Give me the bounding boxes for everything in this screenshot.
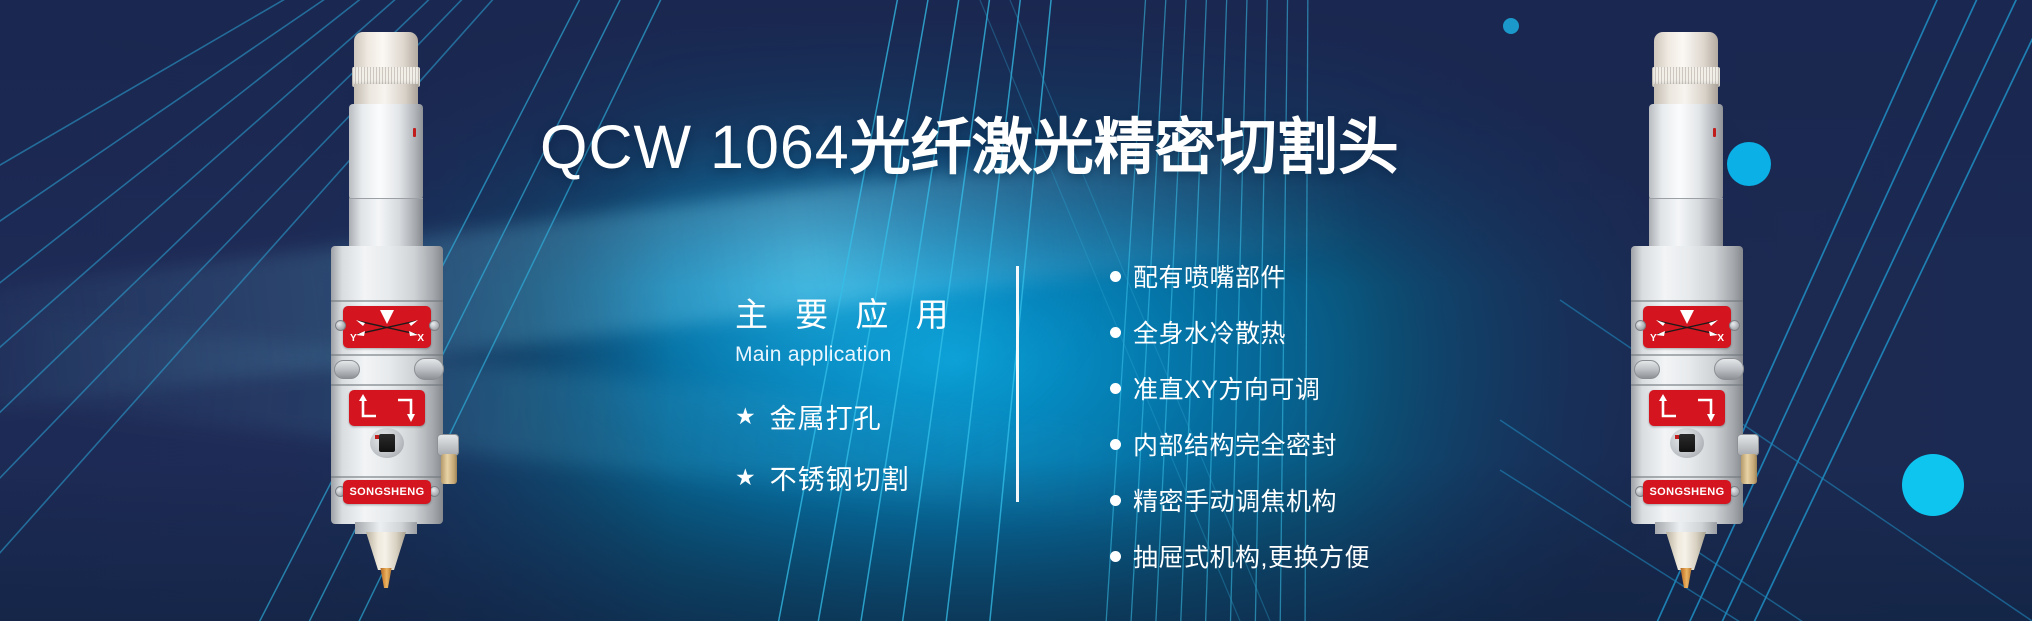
xy-alignment-label: Y X — [1643, 306, 1731, 348]
body-seam — [1631, 384, 1743, 386]
cross-arrows-icon — [356, 320, 418, 338]
axis-label-x: X — [1717, 333, 1724, 344]
red-indicator-dot — [1713, 128, 1716, 137]
hose-fitting — [1737, 434, 1765, 492]
title-chinese: 光纤激光精密切割头 — [850, 113, 1399, 181]
product-image-right: Y X SONGSHENG — [1613, 32, 1763, 592]
corner-arrows-icon — [1649, 390, 1725, 426]
vertical-divider — [1016, 266, 1019, 502]
list-item: 配有喷嘴部件 — [1110, 258, 1370, 294]
list-item: 精密手动调焦机构 — [1110, 482, 1370, 518]
direction-arrow-label — [1649, 390, 1725, 426]
star-icon: ★ — [735, 405, 757, 428]
adjust-knob-right — [1714, 358, 1744, 380]
bullet-icon — [1110, 439, 1121, 450]
screw-icon — [335, 320, 346, 331]
feature-label: 准直XY方向可调 — [1133, 370, 1320, 406]
body-seam — [331, 384, 443, 386]
body-seam — [331, 476, 443, 478]
axis-label-y: Y — [350, 333, 357, 344]
list-item: ★ 不锈钢切割 — [735, 458, 1005, 497]
upper-tube — [1649, 104, 1723, 200]
application-item-label: 金属打孔 — [770, 397, 882, 436]
fitting-nut — [1741, 454, 1757, 484]
cap-lower — [354, 84, 418, 106]
application-heading-cn: 主 要 应 用 — [735, 296, 1005, 334]
nozzle-tip — [1679, 568, 1693, 588]
fitting-body — [1737, 434, 1759, 456]
cap-lower — [1654, 84, 1718, 106]
list-item: ★ 金属打孔 — [735, 397, 1005, 436]
list-item: 全身水冷散热 — [1110, 314, 1370, 350]
adjust-knob-left — [334, 360, 360, 379]
decorative-circle-bottom-right — [1902, 454, 1964, 516]
feature-label: 全身水冷散热 — [1133, 314, 1286, 350]
nozzle-cone — [366, 532, 406, 570]
brand-label: SONGSHENG — [343, 480, 431, 504]
body-seam — [1631, 476, 1743, 478]
bullet-icon — [1110, 271, 1121, 282]
sensor-chip — [379, 434, 395, 452]
list-item: 准直XY方向可调 — [1110, 370, 1370, 406]
feature-list: 配有喷嘴部件 全身水冷散热 准直XY方向可调 内部结构完全密封 精密手动调焦机构… — [1110, 258, 1370, 594]
product-image-left: Y X SONGSHENG — [313, 32, 463, 592]
body-seam — [331, 354, 443, 356]
list-item: 内部结构完全密封 — [1110, 426, 1370, 462]
body-seam — [1631, 354, 1743, 356]
bullet-icon — [1110, 551, 1121, 562]
xy-alignment-label: Y X — [343, 306, 431, 348]
adjust-knob-left — [1634, 360, 1660, 379]
nozzle-cone — [1666, 532, 1706, 570]
corner-arrows-icon — [349, 390, 425, 426]
sensor-chip — [1679, 434, 1695, 452]
page-title: QCW 1064光纤激光精密切割头 — [540, 97, 1399, 186]
application-item-label: 不锈钢切割 — [770, 458, 910, 497]
hose-fitting — [437, 434, 465, 492]
feature-label: 抽屉式机构,更换方便 — [1133, 538, 1370, 574]
brand-label: SONGSHENG — [1643, 480, 1731, 504]
screw-icon — [429, 320, 440, 331]
application-block: 主 要 应 用 Main application ★ 金属打孔 ★ 不锈钢切割 — [735, 296, 1005, 519]
fitting-body — [437, 434, 459, 456]
decorative-circle-small — [1503, 18, 1519, 34]
adjust-knob-right — [414, 358, 444, 380]
feature-label: 内部结构完全密封 — [1133, 426, 1337, 462]
cross-arrows-icon — [1656, 320, 1718, 338]
body-seam — [331, 300, 443, 302]
star-icon: ★ — [735, 466, 757, 489]
list-item: 抽屉式机构,更换方便 — [1110, 538, 1370, 574]
body-seam — [1631, 300, 1743, 302]
title-model: QCW 1064 — [540, 113, 850, 181]
axis-label-x: X — [417, 333, 424, 344]
bullet-icon — [1110, 383, 1121, 394]
fitting-nut — [441, 454, 457, 484]
feature-label: 精密手动调焦机构 — [1133, 482, 1337, 518]
axis-label-y: Y — [1650, 333, 1657, 344]
product-banner: QCW 1064光纤激光精密切割头 主 要 应 用 Main applicati… — [0, 0, 2032, 621]
bullet-icon — [1110, 495, 1121, 506]
screw-icon — [1729, 320, 1740, 331]
red-indicator-dot — [413, 128, 416, 137]
application-item-list: ★ 金属打孔 ★ 不锈钢切割 — [735, 397, 1005, 497]
application-heading-en: Main application — [735, 343, 1005, 367]
brand-label-text: SONGSHENG — [1649, 486, 1724, 498]
upper-tube — [349, 104, 423, 200]
brand-label-text: SONGSHENG — [349, 486, 424, 498]
screw-icon — [1635, 320, 1646, 331]
nozzle-tip — [379, 568, 393, 588]
feature-label: 配有喷嘴部件 — [1133, 258, 1286, 294]
bullet-icon — [1110, 327, 1121, 338]
direction-arrow-label — [349, 390, 425, 426]
